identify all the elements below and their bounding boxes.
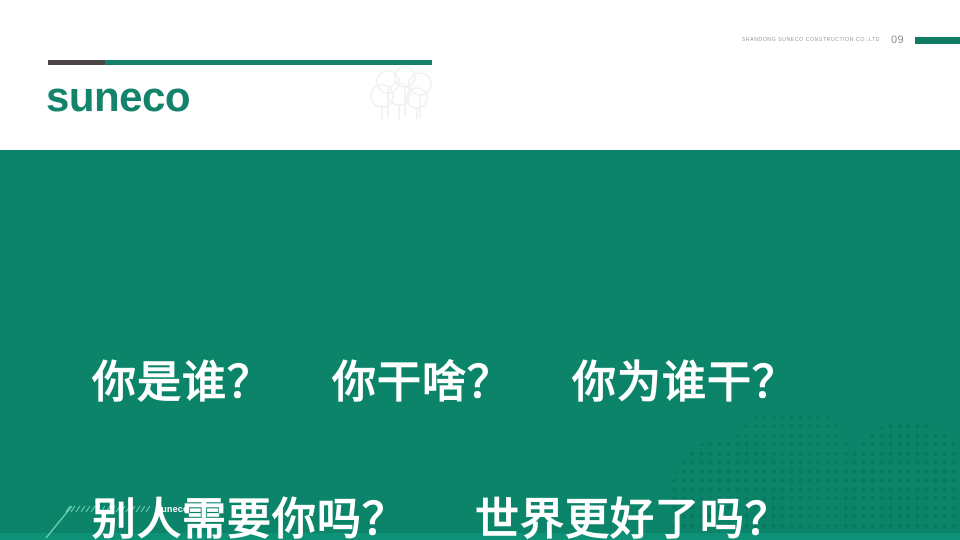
headline-line-1: 你是谁？ 你干啥？ 你为谁干？ — [92, 346, 892, 410]
rule-segment-dark — [48, 60, 105, 65]
logo-divider-rule — [48, 60, 432, 65]
slide-body: suneco 你是谁？ 你干啥？ 你为谁干？ 别人需要你吗？ 世界更好了吗？ — [0, 150, 960, 540]
brand-logo-wordmark: suneco — [46, 74, 190, 120]
header-accent-bar — [915, 37, 960, 44]
page-number-label: 09 — [891, 33, 904, 47]
slide-header: SHANDONG SUNECO CONSTRUCTION CO.,LTD 09 … — [0, 0, 960, 150]
company-name-label: SHANDONG SUNECO CONSTRUCTION CO.,LTD — [742, 33, 880, 47]
headline-question: 你为谁干？ — [572, 346, 797, 410]
tree-cluster-watermark-icon — [366, 66, 438, 124]
headline-block: 你是谁？ 你干啥？ 你为谁干？ 别人需要你吗？ 世界更好了吗？ — [92, 346, 892, 540]
headline-question: 你干啥？ — [332, 346, 512, 410]
headline-question: 别人需要你吗？ — [92, 483, 407, 540]
header-meta-group: SHANDONG SUNECO CONSTRUCTION CO.,LTD 09 — [742, 33, 960, 47]
headline-line-2: 别人需要你吗？ 世界更好了吗？ — [92, 483, 892, 540]
headline-question: 世界更好了吗？ — [475, 483, 790, 540]
rule-segment-teal — [105, 60, 432, 65]
slide-canvas: SHANDONG SUNECO CONSTRUCTION CO.,LTD 09 … — [0, 0, 960, 540]
headline-question: 你是谁？ — [92, 346, 272, 410]
